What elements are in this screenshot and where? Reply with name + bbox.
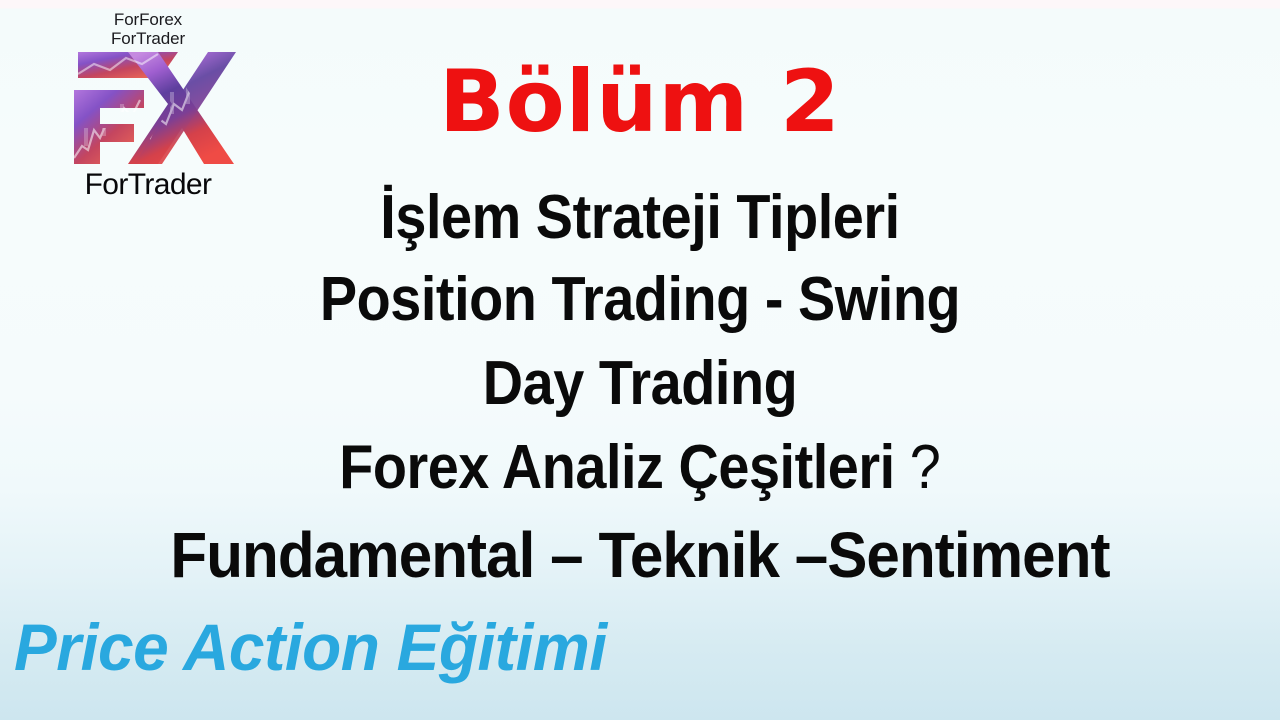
- headline-line-4-text: Forex Analiz Çeşitleri: [339, 433, 895, 502]
- title-deck: Bölüm 2 İşlem Strateji Tipleri Position …: [0, 0, 1280, 720]
- question-mark-glyph: ?: [910, 433, 941, 502]
- headline-line-4: Forex Analiz Çeşitleri ?: [64, 432, 1216, 504]
- headline-line-1: İşlem Strateji Tipleri: [64, 182, 1216, 254]
- chapter-title: Bölüm 2: [0, 54, 1280, 150]
- headline-line-2: Position Trading - Swing: [64, 264, 1216, 336]
- slide-canvas: ForForex ForTrader: [0, 0, 1280, 720]
- headline-line-5: Fundamental – Teknik –Sentiment: [38, 518, 1241, 592]
- headline-line-3: Day Trading: [64, 348, 1216, 420]
- footer-course-title: Price Action Eğitimi: [14, 608, 1236, 686]
